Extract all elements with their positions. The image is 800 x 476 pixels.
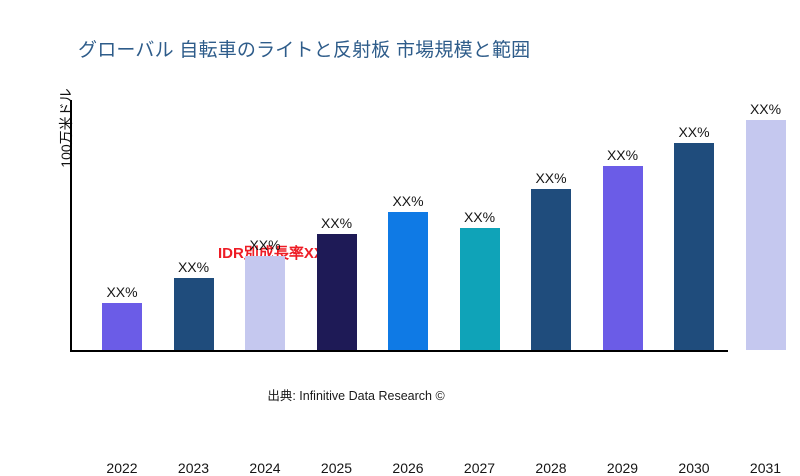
bar-value-label-2022: XX% — [106, 284, 137, 300]
bar-2026[interactable] — [388, 212, 428, 350]
bar-group: XX% — [603, 142, 643, 350]
source-note: 出典: Infinitive Data Research © — [0, 385, 712, 404]
x-tick-2031: 2031 — [736, 460, 796, 476]
x-tick-2028: 2028 — [521, 460, 581, 476]
bar-group: XX% — [746, 96, 786, 350]
bar-group: XX% — [102, 279, 142, 350]
bar-2029[interactable] — [603, 166, 643, 350]
x-axis-line — [70, 350, 728, 352]
chart-title: グローバル 自転車のライトと反射板 市場規模と範囲 — [78, 38, 738, 64]
bar-group: XX% — [245, 232, 285, 350]
bar-group: XX% — [531, 165, 571, 350]
bar-group: XX% — [317, 210, 357, 350]
x-tick-2026: 2026 — [378, 460, 438, 476]
x-tick-2024: 2024 — [235, 460, 295, 476]
x-tick-2027: 2027 — [450, 460, 510, 476]
bar-2023[interactable] — [174, 278, 214, 350]
x-tick-2025: 2025 — [307, 460, 367, 476]
bar-value-label-2026: XX% — [392, 193, 423, 209]
bar-2025[interactable] — [317, 234, 357, 350]
chart-figure: グローバル 自転車のライトと反射板 市場規模と範囲 100万米ドル IDR別成長… — [0, 0, 800, 450]
bar-2024[interactable] — [245, 256, 285, 350]
x-tick-2022: 2022 — [92, 460, 152, 476]
bar-value-label-2030: XX% — [678, 124, 709, 140]
bar-group: XX% — [174, 254, 214, 350]
bar-group: XX% — [388, 188, 428, 350]
x-tick-2029: 2029 — [593, 460, 653, 476]
bar-group: XX% — [460, 204, 500, 350]
bar-value-label-2023: XX% — [178, 259, 209, 275]
bar-2027[interactable] — [460, 228, 500, 350]
x-tick-2030: 2030 — [664, 460, 724, 476]
bar-2022[interactable] — [102, 303, 142, 350]
plot-area: IDR別成長率XX% XX%XX%XX%XX%XX%XX%XX%XX%XX%XX… — [70, 100, 770, 352]
bar-value-label-2028: XX% — [535, 170, 566, 186]
bar-2031[interactable] — [746, 120, 786, 350]
bar-2030[interactable] — [674, 143, 714, 350]
y-axis-line — [70, 100, 72, 352]
bar-value-label-2031: XX% — [750, 101, 781, 117]
bar-value-label-2025: XX% — [321, 215, 352, 231]
bar-value-label-2027: XX% — [464, 209, 495, 225]
bar-2028[interactable] — [531, 189, 571, 350]
bar-group: XX% — [674, 119, 714, 350]
bar-value-label-2029: XX% — [607, 147, 638, 163]
bar-value-label-2024: XX% — [249, 237, 280, 253]
x-tick-2023: 2023 — [164, 460, 224, 476]
